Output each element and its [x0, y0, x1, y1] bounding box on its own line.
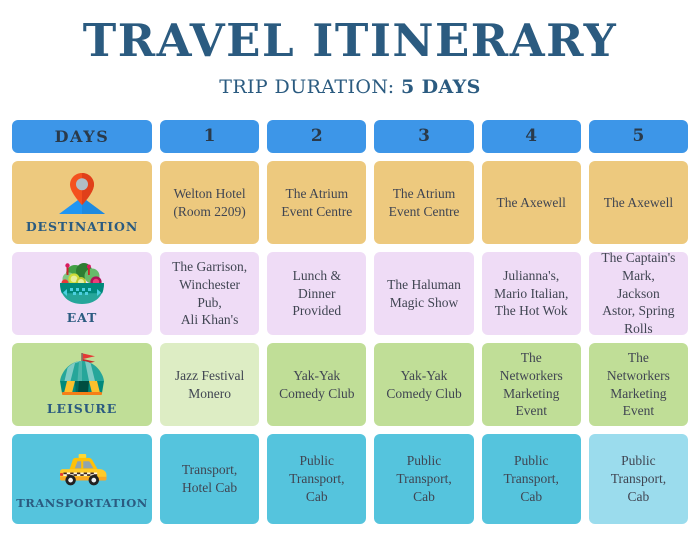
- cell-transportation-day-1: Transport, Hotel Cab: [160, 434, 259, 524]
- column-header-days: DAYS: [12, 120, 152, 153]
- cell-text: The Axewell: [497, 194, 566, 212]
- cell-text: Public Transport, Cab: [611, 452, 666, 505]
- column-header-day-2: 2: [267, 120, 366, 153]
- cell-leisure-day-1: Jazz Festival Monero: [160, 343, 259, 426]
- cell-transportation-day-5: Public Transport, Cab: [589, 434, 688, 524]
- column-header-day-4: 4: [482, 120, 581, 153]
- cell-destination-day-5: The Axewell: [589, 161, 688, 244]
- column-header-day-1: 1: [160, 120, 259, 153]
- table-row-eat: EAT The Garrison, Winchester Pub, Ali Kh…: [12, 252, 688, 335]
- cell-destination-day-2: The Atrium Event Centre: [267, 161, 366, 244]
- cell-text: The Haluman Magic Show: [387, 276, 461, 312]
- cell-eat-day-1: The Garrison, Winchester Pub, Ali Khan's: [160, 252, 259, 335]
- cell-text: Julianna's, Mario Italian, The Hot Wok: [494, 267, 568, 320]
- cell-leisure-day-3: Yak-Yak Comedy Club: [374, 343, 473, 426]
- cell-text: Public Transport, Cab: [504, 452, 559, 505]
- cell-text: The Atrium Event Centre: [281, 185, 352, 221]
- row-label-leisure: LEISURE: [12, 343, 152, 426]
- cell-destination-day-3: The Atrium Event Centre: [374, 161, 473, 244]
- column-header-day-3: 3: [374, 120, 473, 153]
- cell-leisure-day-2: Yak-Yak Comedy Club: [267, 343, 366, 426]
- table-row-transportation: TRANSPORTATION Transport, Hotel Cab Publ…: [12, 434, 688, 524]
- row-label-text-destination: DESTINATION: [26, 219, 138, 236]
- title-block: TRAVEL ITINERARY TRIP DURATION: 5 DAYS: [0, 0, 700, 98]
- circus-tent-icon: [55, 351, 109, 399]
- column-header-day-5: 5: [589, 120, 688, 153]
- itinerary-table: DAYS 1 2 3 4 5 DESTINATION Welton Hotel …: [12, 120, 688, 524]
- cell-leisure-day-5: The Networkers Marketing Event: [589, 343, 688, 426]
- trip-duration-label: TRIP DURATION:: [219, 76, 394, 98]
- row-label-transportation: TRANSPORTATION: [12, 434, 152, 524]
- cell-destination-day-1: Welton Hotel (Room 2209): [160, 161, 259, 244]
- row-label-eat: EAT: [12, 252, 152, 335]
- table-row-leisure: LEISURE Jazz Festival Monero Yak-Yak Com…: [12, 343, 688, 426]
- trip-duration-value: 5 DAYS: [401, 76, 481, 98]
- cell-text: The Networkers Marketing Event: [607, 349, 670, 420]
- cell-eat-day-3: The Haluman Magic Show: [374, 252, 473, 335]
- table-row-destination: DESTINATION Welton Hotel (Room 2209) The…: [12, 161, 688, 244]
- itinerary-page: TRAVEL ITINERARY TRIP DURATION: 5 DAYS D…: [0, 0, 700, 540]
- cell-text: The Garrison, Winchester Pub, Ali Khan's: [172, 258, 247, 329]
- cell-text: The Captain's Mark, Jackson Astor, Sprin…: [601, 252, 675, 335]
- cell-text: Yak-Yak Comedy Club: [386, 367, 461, 403]
- cell-eat-day-4: Julianna's, Mario Italian, The Hot Wok: [482, 252, 581, 335]
- cell-transportation-day-4: Public Transport, Cab: [482, 434, 581, 524]
- cell-destination-day-4: The Axewell: [482, 161, 581, 244]
- cell-text: The Axewell: [604, 194, 673, 212]
- cell-leisure-day-4: The Networkers Marketing Event: [482, 343, 581, 426]
- cell-text: Jazz Festival Monero: [175, 367, 244, 403]
- cell-text: Lunch & Dinner Provided: [292, 267, 341, 320]
- cell-text: Public Transport, Cab: [289, 452, 344, 505]
- row-label-destination: DESTINATION: [12, 161, 152, 244]
- cell-transportation-day-2: Public Transport, Cab: [267, 434, 366, 524]
- cell-eat-day-5: The Captain's Mark, Jackson Astor, Sprin…: [589, 252, 688, 335]
- map-pin-icon: [55, 169, 109, 217]
- trip-duration: TRIP DURATION: 5 DAYS: [0, 76, 700, 98]
- cell-text: Transport, Hotel Cab: [182, 461, 237, 497]
- row-label-text-transportation: TRANSPORTATION: [16, 496, 148, 511]
- page-title: TRAVEL ITINERARY: [0, 17, 700, 64]
- table-header-row: DAYS 1 2 3 4 5: [12, 120, 688, 153]
- cell-text: The Networkers Marketing Event: [500, 349, 563, 420]
- cell-text: The Atrium Event Centre: [389, 185, 460, 221]
- row-label-text-eat: EAT: [67, 310, 98, 327]
- cell-transportation-day-3: Public Transport, Cab: [374, 434, 473, 524]
- cell-text: Welton Hotel (Room 2209): [173, 185, 245, 221]
- taxi-icon: [55, 446, 109, 494]
- cell-eat-day-2: Lunch & Dinner Provided: [267, 252, 366, 335]
- cell-text: Yak-Yak Comedy Club: [279, 367, 354, 403]
- row-label-text-leisure: LEISURE: [47, 401, 117, 418]
- salad-bowl-icon: [55, 260, 109, 308]
- cell-text: Public Transport, Cab: [396, 452, 451, 505]
